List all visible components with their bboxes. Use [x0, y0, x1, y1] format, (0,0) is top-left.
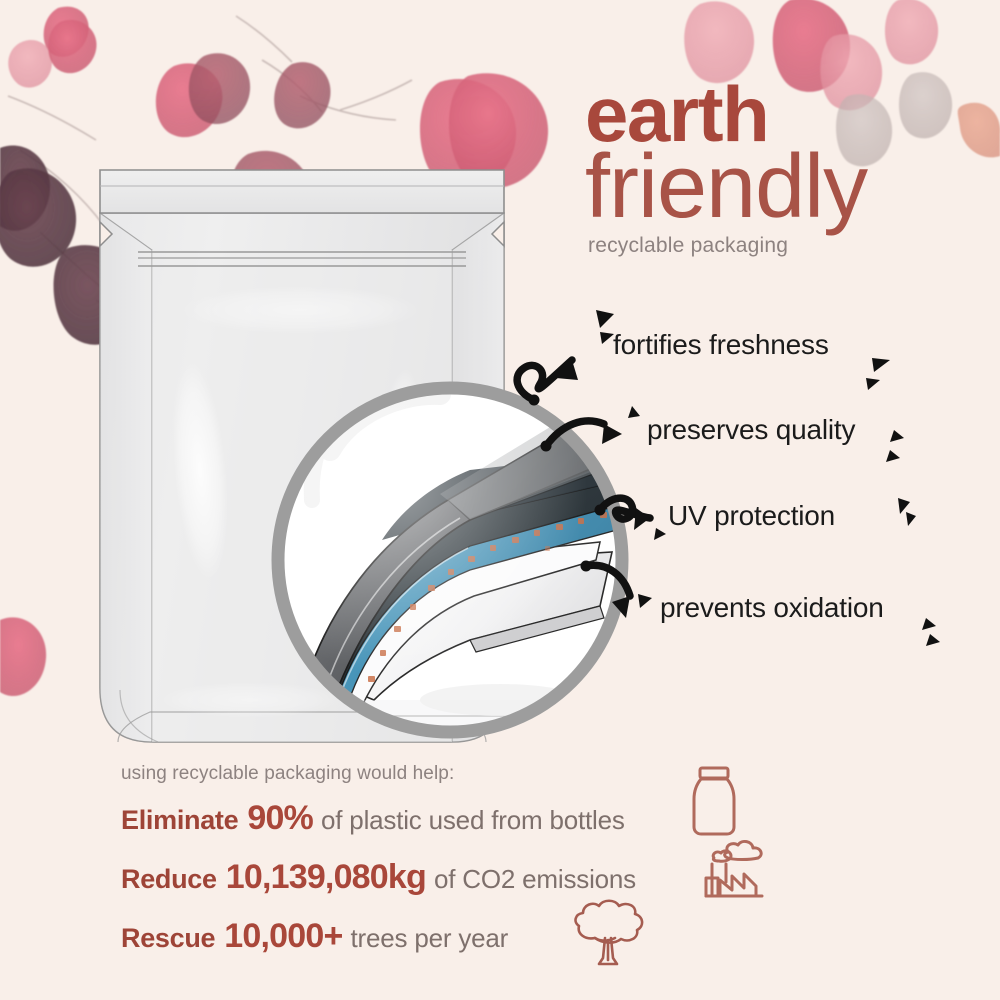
- headline-subtitle: recyclable packaging: [588, 236, 985, 256]
- feature-label-uv-protection: UV protection: [668, 500, 835, 532]
- stat-row-rescue: Rescue 10,000+ trees per year: [121, 917, 821, 956]
- tree-icon: [565, 898, 651, 975]
- stat-tail: trees per year: [351, 923, 509, 954]
- arrowheads: [556, 360, 650, 618]
- feature-label-prevents-oxidation: prevents oxidation: [660, 592, 884, 624]
- stat-tail: of CO2 emissions: [434, 864, 636, 895]
- arrow-fortifies-freshness: [517, 360, 572, 400]
- stat-figure: 10,000+: [224, 917, 342, 956]
- feature-label-preserves-quality: preserves quality: [647, 414, 855, 446]
- headline-block: earth friendly recyclable packaging: [585, 78, 985, 256]
- title-line-friendly: friendly: [585, 145, 985, 230]
- arrow-prevents-oxidation: [586, 565, 630, 596]
- stat-figure: 10,139,080kg: [226, 858, 426, 897]
- poster-canvas: earth friendly recyclable packaging fort…: [0, 0, 1000, 1000]
- arrow-preserves-quality: [546, 421, 604, 446]
- stat-verb: Eliminate: [121, 805, 238, 836]
- feature-label-fortifies-freshness: fortifies freshness: [613, 329, 829, 361]
- stat-figure: 90%: [247, 799, 313, 838]
- bottle-icon: [686, 765, 742, 842]
- stat-verb: Rescue: [121, 923, 215, 954]
- stat-verb: Reduce: [121, 864, 217, 895]
- stat-tail: of plastic used from bottles: [321, 805, 625, 836]
- factory-icon: [698, 838, 770, 905]
